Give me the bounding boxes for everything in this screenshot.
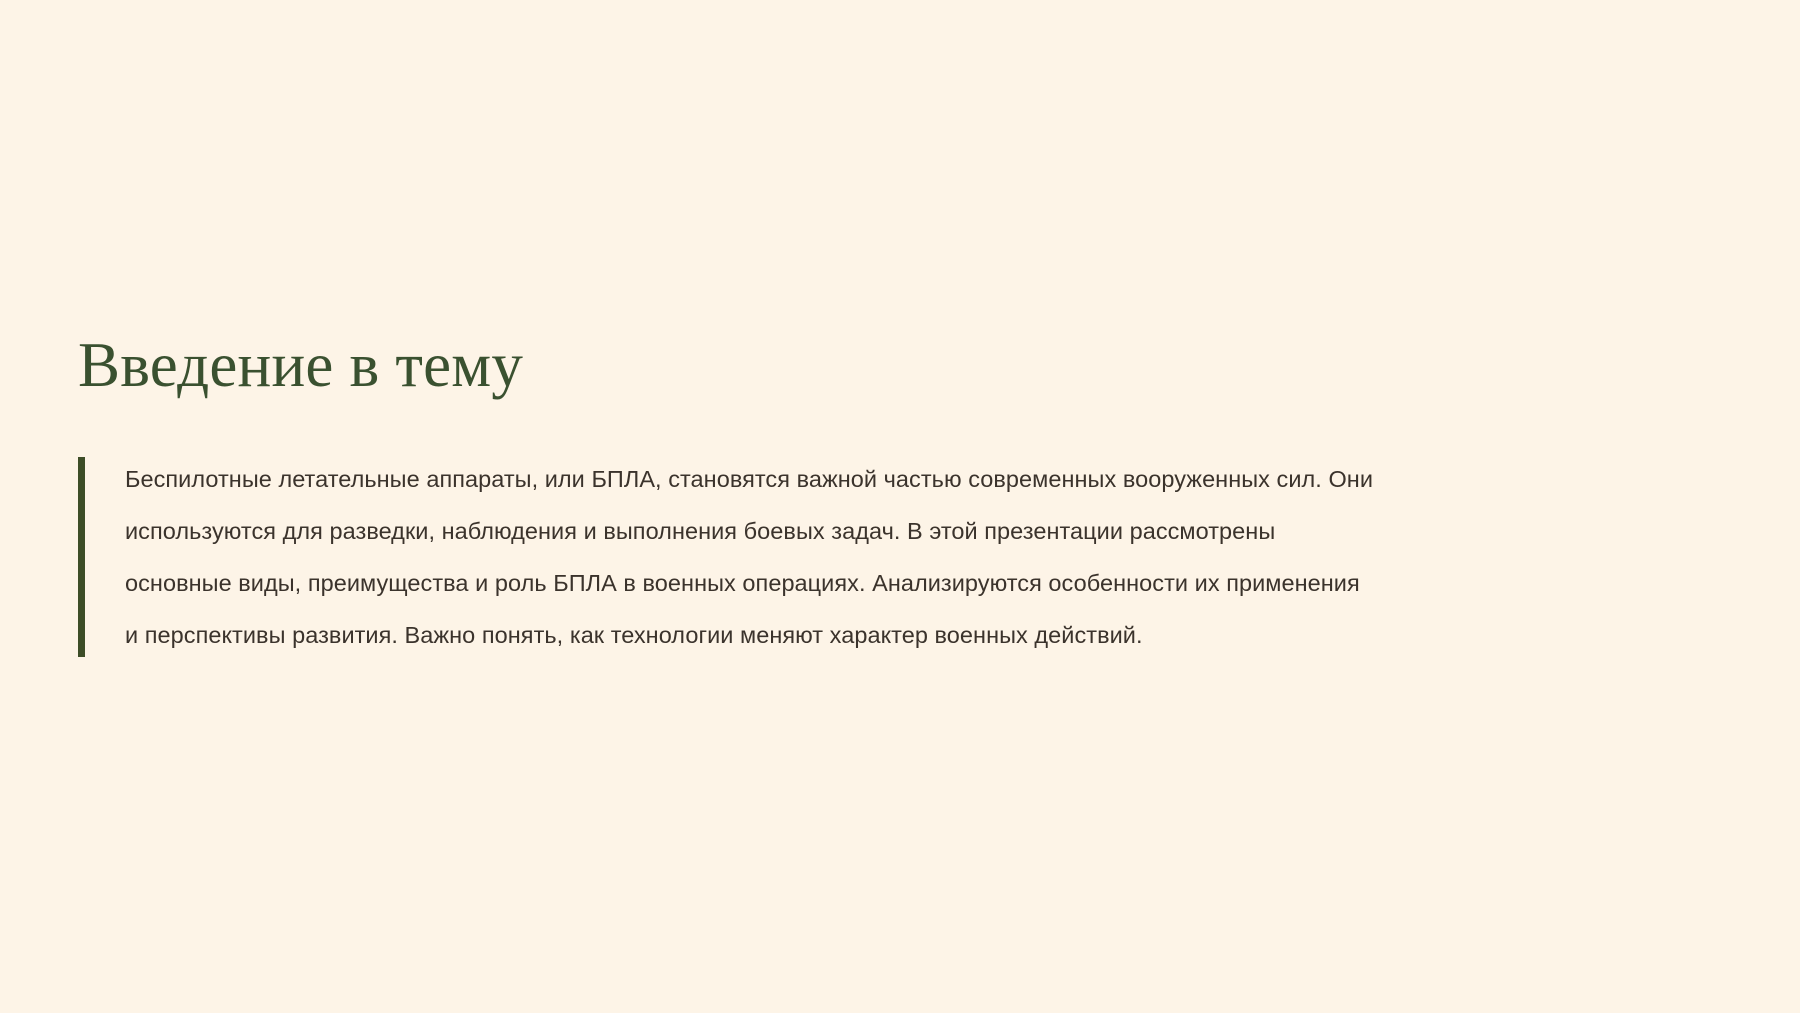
slide-content-block: Введение в тему Беспилотные летательные … <box>78 330 1718 661</box>
body-line: и перспективы развития. Важно понять, ка… <box>125 609 1718 661</box>
body-paragraph: Беспилотные летательные аппараты, или БП… <box>125 453 1718 661</box>
presentation-slide: Введение в тему Беспилотные летательные … <box>0 0 1800 1013</box>
accent-bar <box>78 457 85 657</box>
body-line: используются для разведки, наблюдения и … <box>125 505 1718 557</box>
page-title: Введение в тему <box>78 330 1718 401</box>
body-line: основные виды, преимущества и роль БПЛА … <box>125 557 1718 609</box>
quote-block: Беспилотные летательные аппараты, или БП… <box>78 453 1718 661</box>
body-line: Беспилотные летательные аппараты, или БП… <box>125 453 1718 505</box>
